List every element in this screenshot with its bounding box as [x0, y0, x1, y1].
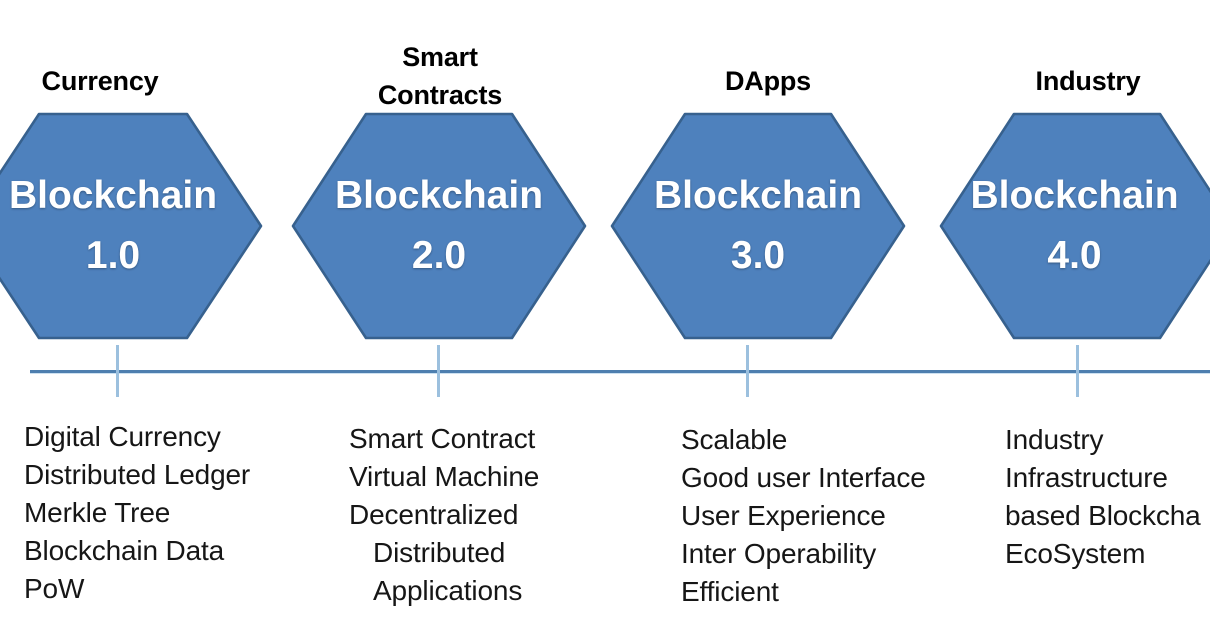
- category-label-2: Smart Contracts: [320, 38, 560, 114]
- feature-list-4: Industry Infrastructure based Blockcha E…: [1005, 421, 1210, 573]
- feature-list-1: Digital Currency Distributed Ledger Merk…: [24, 418, 334, 608]
- blockchain-evolution-diagram: Currency Smart Contracts DApps Industry …: [0, 0, 1210, 640]
- feature-item: Digital Currency: [24, 418, 334, 456]
- timeline-tick-2: [437, 345, 440, 397]
- timeline-tick-4: [1076, 345, 1079, 397]
- feature-list-3: Scalable Good user Interface User Experi…: [681, 421, 1011, 611]
- feature-item: Infrastructure: [1005, 459, 1210, 497]
- feature-item: Industry: [1005, 421, 1210, 459]
- feature-item: Virtual Machine: [349, 458, 669, 496]
- feature-item: Efficient: [681, 573, 1011, 611]
- category-label-3: DApps: [648, 62, 888, 100]
- feature-item: Good user Interface: [681, 459, 1011, 497]
- feature-item: Inter Operability: [681, 535, 1011, 573]
- feature-item: Decentralized: [349, 496, 669, 534]
- hexagon-stage-1[interactable]: Blockchain1.0: [0, 112, 263, 340]
- feature-item: based Blockcha: [1005, 497, 1210, 535]
- hexagon-stage-3[interactable]: Blockchain3.0: [610, 112, 906, 340]
- feature-item: EcoSystem: [1005, 535, 1210, 573]
- hexagon-stage-2[interactable]: Blockchain2.0: [291, 112, 587, 340]
- hexagon-stage-4[interactable]: Blockchain4.0: [939, 112, 1210, 340]
- feature-item: Distributed Ledger: [24, 456, 334, 494]
- feature-item: Smart Contract: [349, 420, 669, 458]
- timeline-axis: [30, 370, 1210, 373]
- category-label-1: Currency: [0, 62, 220, 100]
- feature-item: Distributed: [349, 534, 669, 572]
- feature-item: User Experience: [681, 497, 1011, 535]
- timeline-tick-1: [116, 345, 119, 397]
- feature-item: Blockchain Data: [24, 532, 334, 570]
- hexagon-shape-icon: [291, 112, 587, 340]
- feature-item: Scalable: [681, 421, 1011, 459]
- category-label-4: Industry: [968, 62, 1208, 100]
- timeline-tick-3: [746, 345, 749, 397]
- hexagon-shape-icon: [0, 112, 263, 340]
- feature-item: PoW: [24, 570, 334, 608]
- hexagon-shape-icon: [610, 112, 906, 340]
- feature-item: Merkle Tree: [24, 494, 334, 532]
- feature-item: Applications: [349, 572, 669, 610]
- feature-list-2: Smart Contract Virtual Machine Decentral…: [349, 420, 669, 610]
- hexagon-shape-icon: [939, 112, 1210, 340]
